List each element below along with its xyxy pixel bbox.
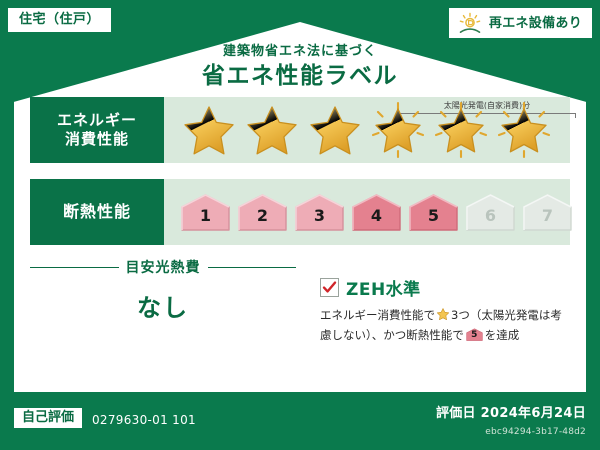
zeh-title: ZEH水準 [346, 275, 421, 300]
star-icon [180, 101, 238, 159]
evaluation-code: 0279630-01 101 [92, 413, 196, 427]
zeh-description: エネルギー消費性能で3つ（太陽光発電は考慮しない）、かつ断熱性能で5を達成 [320, 306, 570, 345]
renewable-badge-label: 再エネ設備あり [489, 17, 582, 30]
insulation-chip-achieved: 4 [351, 193, 402, 231]
insulation-chip-value: 5 [428, 208, 439, 231]
zeh-section: ZEH水準 エネルギー消費性能で3つ（太陽光発電は考慮しない）、かつ断熱性能で5… [320, 275, 570, 345]
evaluation-hash: ebc94294-3b17-48d2 [485, 427, 586, 437]
insulation-label: 断熱性能 [63, 202, 131, 222]
checkbox-checked-icon [320, 278, 339, 297]
insulation-performance-row: 断熱性能 1 2 [30, 179, 570, 245]
insulation-grade-scale: 1 2 3 [180, 179, 573, 245]
star-icon-solar [432, 101, 490, 159]
insulation-chip-value: 4 [371, 208, 382, 231]
zeh-desc-part2: 3つ（太陽光発電 [451, 308, 539, 322]
insulation-chip: 2 [237, 193, 288, 231]
label-title: 省エネ性能ラベル [0, 56, 600, 90]
energy-star-rating [180, 97, 553, 163]
utility-cost-title: 目安光熱費 [126, 257, 201, 277]
energy-performance-label: 住宅（住戸） 再エネ設備あり 建築物省エネ法に基づく 省エネ性能ラベル [0, 0, 600, 450]
zeh-heading: ZEH水準 [320, 275, 570, 300]
insulation-chip-inline: 5 [466, 327, 483, 342]
sun-icon [457, 12, 483, 34]
insulation-chip-value: 6 [485, 208, 496, 231]
utility-cost-heading: 目安光熱費 [30, 258, 296, 276]
star-icon-inline [436, 307, 450, 326]
energy-performance-label-box: エネルギー 消費性能 [30, 97, 164, 163]
star-icon [243, 101, 301, 159]
energy-label-line2: 消費性能 [65, 130, 129, 149]
insulation-performance-label-box: 断熱性能 [30, 179, 164, 245]
zeh-desc-part4: を達成 [485, 328, 520, 342]
category-badge: 住宅（住戸） [8, 8, 111, 32]
insulation-chip-value: 7 [542, 208, 553, 231]
renewable-energy-badge: 再エネ設備あり [449, 8, 592, 38]
performance-panel: エネルギー 消費性能 太陽光発電(自家消費)分 [30, 97, 570, 245]
insulation-chip-inactive: 6 [465, 193, 516, 231]
insulation-chip: 3 [294, 193, 345, 231]
solar-bracket-tick-right [575, 113, 576, 118]
energy-label-line1: エネルギー [57, 111, 137, 130]
star-icon-solar [495, 101, 553, 159]
insulation-chip-inline-value: 5 [466, 327, 483, 342]
heading-rule-right [208, 267, 297, 268]
zeh-desc-part1: エネルギー消費性能で [320, 308, 435, 322]
insulation-chip-value: 1 [200, 208, 211, 231]
insulation-chip-value: 3 [314, 208, 325, 231]
insulation-chip-value: 2 [257, 208, 268, 231]
energy-performance-row: エネルギー 消費性能 太陽光発電(自家消費)分 [30, 97, 570, 163]
evaluation-date: 評価日 2024年6月24日 [436, 402, 586, 421]
utility-cost-value: なし [30, 288, 296, 323]
insulation-chip: 1 [180, 193, 231, 231]
insulation-chip-achieved: 5 [408, 193, 459, 231]
evaluation-type-badge: 自己評価 [14, 408, 82, 428]
insulation-chip-inactive: 7 [522, 193, 573, 231]
star-icon [306, 101, 364, 159]
star-icon-solar [369, 101, 427, 159]
heading-rule-left [30, 267, 119, 268]
panel-divider [30, 163, 570, 179]
